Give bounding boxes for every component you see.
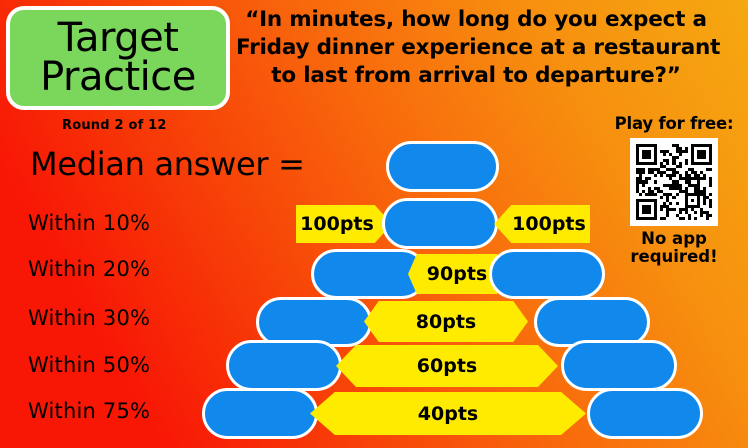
question-line-1: “In minutes, how long do you expect a	[236, 6, 716, 34]
question-line-3: to last from arrival to departure?”	[236, 62, 716, 90]
threshold-label-50: Within 50%	[28, 353, 150, 377]
qr-heading: Play for free:	[600, 114, 748, 133]
qr-panel: Play for free: No app required!	[600, 114, 748, 267]
answer-pill-row2-right[interactable]	[489, 249, 605, 299]
median-answer-label: Median answer =	[30, 145, 305, 183]
threshold-label-75: Within 75%	[28, 399, 150, 423]
points-tag-100-left: 100pts	[296, 205, 392, 243]
qr-code-icon[interactable]	[630, 138, 718, 226]
threshold-label-30: Within 30%	[28, 306, 150, 330]
answer-pill-row5-right[interactable]	[587, 388, 703, 439]
threshold-label-20: Within 20%	[28, 257, 150, 281]
target-practice-slide: Target Practice Round 2 of 12 “In minute…	[0, 0, 748, 448]
points-tag-80: 80pts	[364, 301, 528, 342]
qr-footer-line-2: required!	[600, 248, 748, 266]
points-tag-100-right: 100pts	[494, 205, 590, 243]
answer-pill-row4-right[interactable]	[561, 340, 677, 391]
question-text: “In minutes, how long do you expect a Fr…	[236, 6, 716, 90]
qr-footer-line-1: No app	[600, 230, 748, 248]
answer-pill-row4-left[interactable]	[226, 340, 342, 391]
answer-pill-row5-left[interactable]	[202, 388, 318, 439]
points-tag-60: 60pts	[336, 345, 558, 387]
qr-footer: No app required!	[600, 230, 748, 267]
title-line-2: Practice	[40, 58, 196, 97]
points-tag-40: 40pts	[310, 392, 586, 435]
question-line-2: Friday dinner experience at a restaurant	[236, 34, 716, 62]
answer-pill-row1-center[interactable]	[382, 198, 498, 249]
median-answer-pill[interactable]	[386, 141, 499, 192]
round-counter: Round 2 of 12	[62, 118, 167, 133]
title-line-1: Target	[58, 19, 179, 58]
title-box: Target Practice	[6, 6, 230, 110]
threshold-label-10: Within 10%	[28, 211, 150, 235]
